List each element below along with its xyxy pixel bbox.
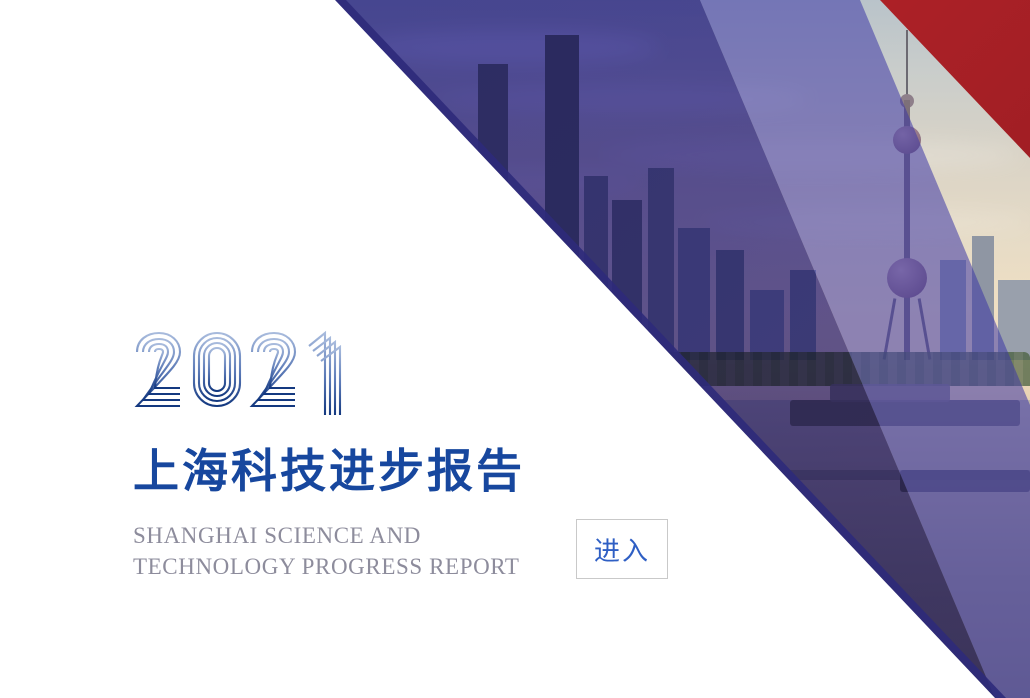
subtitle-line-2: TECHNOLOGY PROGRESS REPORT: [133, 551, 603, 582]
enter-button-label: 进入: [594, 531, 650, 568]
year-2021-outline-icon: [133, 330, 348, 418]
cover-page: 上海科技进步报告 SHANGHAI SCIENCE AND TECHNOLOGY…: [0, 0, 1030, 698]
year-logo: [133, 330, 353, 420]
subtitle-line-1: SHANGHAI SCIENCE AND: [133, 520, 603, 551]
page-title-chinese: 上海科技进步报告: [133, 448, 603, 494]
building-block: [345, 120, 375, 360]
page-subtitle-english: SHANGHAI SCIENCE AND TECHNOLOGY PROGRESS…: [133, 520, 603, 582]
enter-button[interactable]: 进入: [576, 519, 668, 579]
cover-content: 上海科技进步报告 SHANGHAI SCIENCE AND TECHNOLOGY…: [133, 330, 603, 582]
